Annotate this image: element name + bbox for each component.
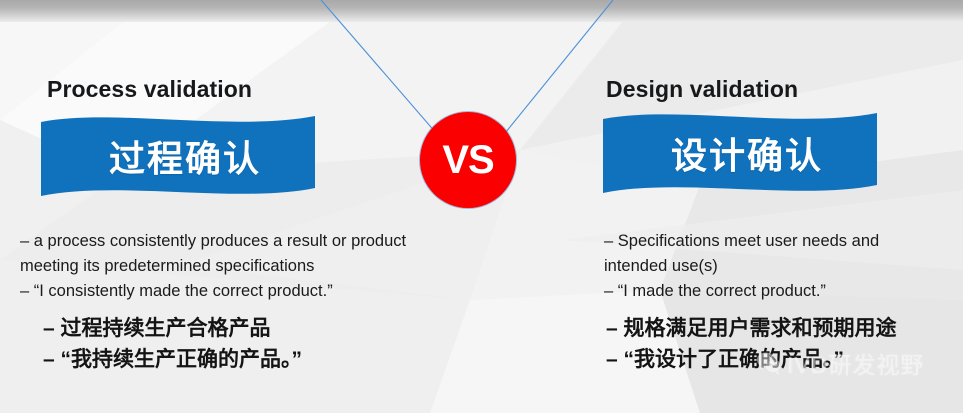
page-title-left: Process validation <box>47 76 252 103</box>
banner-right: 设计确认 <box>595 105 885 201</box>
page-title-right: Design validation <box>606 76 798 103</box>
banner-left: 过程确认 <box>33 108 323 204</box>
slide-canvas: Process validation 过程确认 – a process cons… <box>0 0 963 413</box>
banner-left-label: 过程确认 <box>33 108 323 204</box>
right-chinese-bullets: – 规格满足用户需求和预期用途 – “我设计了正确的产品。” <box>606 313 897 375</box>
banner-right-label: 设计确认 <box>595 105 885 201</box>
left-english-bullets: – a process consistently produces a resu… <box>20 229 406 304</box>
vs-badge-label: VS <box>442 140 493 180</box>
vs-badge: VS <box>420 112 516 208</box>
right-english-bullets: – Specifications meet user needs and int… <box>604 229 879 304</box>
left-chinese-bullets: – 过程持续生产合格产品 – “我持续生产正确的产品。” <box>43 313 302 375</box>
